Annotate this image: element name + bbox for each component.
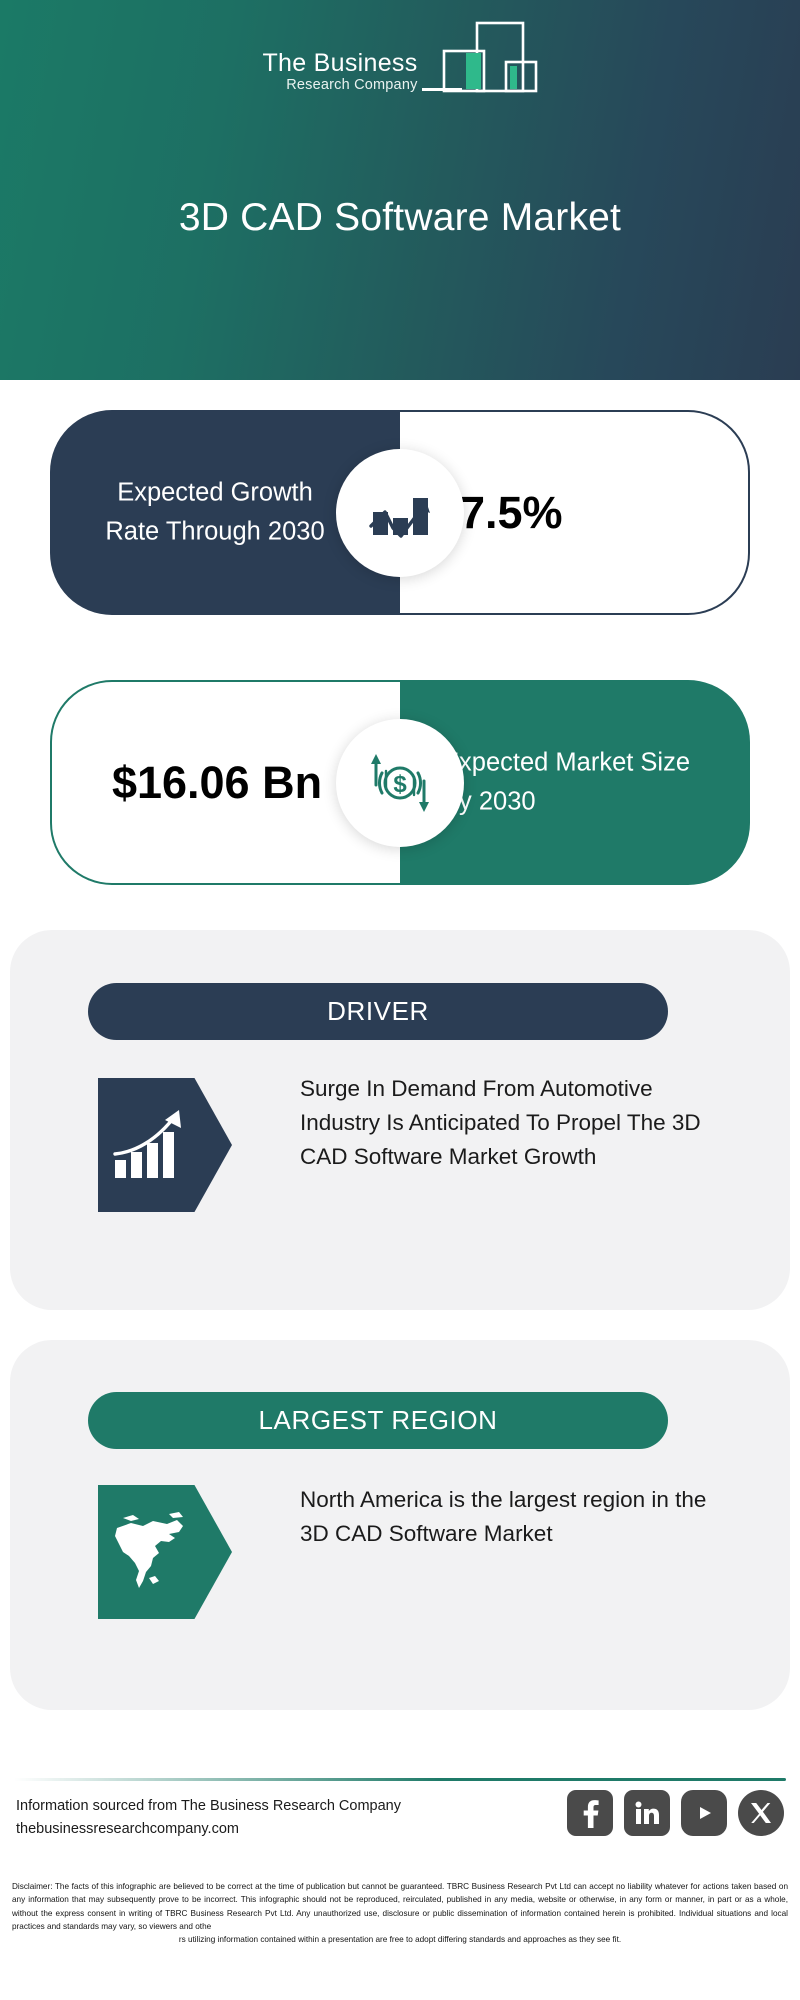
driver-panel: DRIVER Surge In Demand From Automotive I… bbox=[10, 930, 790, 1310]
stat-label: Expected Growth Rate Through 2030 bbox=[90, 473, 340, 552]
north-america-map-icon bbox=[98, 1485, 232, 1619]
stat-value: $16.06 Bn bbox=[102, 754, 332, 810]
stat-value: 7.5% bbox=[460, 484, 700, 540]
svg-text:$: $ bbox=[393, 771, 407, 798]
company-logo: The Business Research Company bbox=[0, 18, 800, 98]
disclaimer-text: Disclaimer: The facts of this infographi… bbox=[12, 1880, 788, 1946]
growth-chart-arrow-icon bbox=[336, 449, 464, 577]
infographic-page: The Business Research Company 3D CAD Sof… bbox=[0, 0, 800, 2000]
x-twitter-icon[interactable] bbox=[738, 1790, 784, 1836]
page-title: 3D CAD Software Market bbox=[0, 196, 800, 240]
disclaimer-last-line: rs utilizing information contained withi… bbox=[12, 1933, 788, 1946]
stat-card-growth-rate: Expected Growth Rate Through 2030 7.5% bbox=[50, 410, 750, 615]
youtube-icon[interactable] bbox=[681, 1790, 727, 1836]
header-banner: The Business Research Company 3D CAD Sof… bbox=[0, 0, 800, 380]
dollar-refresh-icon: $ bbox=[336, 719, 464, 847]
bar-chart-growth-icon bbox=[98, 1078, 232, 1212]
linkedin-icon[interactable] bbox=[624, 1790, 670, 1836]
stat-card-market-size: $16.06 Bn Expected Market Size By 2030 $ bbox=[50, 680, 750, 885]
largest-region-text: North America is the largest region in t… bbox=[300, 1483, 720, 1551]
largest-region-heading: LARGEST REGION bbox=[88, 1392, 668, 1449]
disclaimer-main: Disclaimer: The facts of this infographi… bbox=[12, 1882, 788, 1931]
source-line-1: Information sourced from The Business Re… bbox=[16, 1795, 496, 1818]
facebook-icon[interactable] bbox=[567, 1790, 613, 1836]
logo-line-1: The Business bbox=[262, 50, 417, 76]
logo-text: The Business Research Company bbox=[262, 50, 417, 98]
driver-text: Surge In Demand From Automotive Industry… bbox=[300, 1072, 720, 1175]
bar-chart-logo-mark bbox=[420, 18, 538, 98]
largest-region-panel: LARGEST REGION North America is the larg… bbox=[10, 1340, 790, 1710]
source-info: Information sourced from The Business Re… bbox=[16, 1795, 496, 1841]
logo-line-2: Research Company bbox=[262, 77, 417, 94]
social-links bbox=[567, 1790, 784, 1836]
stat-label: Expected Market Size By 2030 bbox=[442, 743, 692, 822]
driver-heading: DRIVER bbox=[88, 983, 668, 1040]
source-website[interactable]: thebusinessresearchcompany.com bbox=[16, 1818, 496, 1841]
footer-divider bbox=[14, 1778, 786, 1781]
